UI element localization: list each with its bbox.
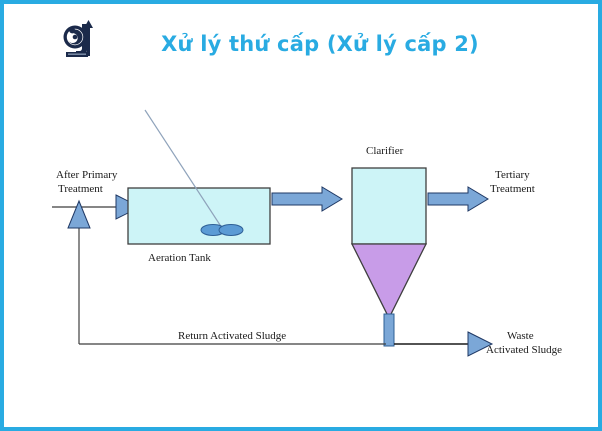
sludge-drawoff-pipe — [384, 314, 394, 346]
clarifier-cone-shape — [352, 244, 426, 318]
screenshot-root: Xử lý thứ cấp (Xử lý cấp 2) — [0, 0, 602, 431]
label-tertiary-treatment: Tertiary Treatment — [490, 168, 535, 196]
return-sludge-arrow-icon — [68, 201, 90, 228]
label-waste-line1: Waste — [486, 329, 562, 343]
label-after-primary-line2: Treatment — [56, 182, 117, 196]
clarifier-tank-shape — [352, 168, 426, 244]
aeration-tank-shape — [128, 188, 270, 244]
label-return-activated-sludge: Return Activated Sludge — [178, 329, 286, 343]
mixed-liquor-arrow-icon — [272, 187, 342, 211]
diffuser-right-icon — [219, 225, 243, 236]
label-waste-activated-sludge: Waste Activated Sludge — [486, 329, 562, 357]
label-waste-line2: Activated Sludge — [486, 343, 562, 357]
label-tertiary-line1: Tertiary — [490, 168, 535, 182]
process-flow-diagram — [0, 0, 602, 431]
label-after-primary-treatment: After Primary Treatment — [56, 168, 117, 196]
label-clarifier: Clarifier — [366, 144, 403, 158]
label-after-primary-line1: After Primary — [56, 168, 117, 182]
effluent-arrow-icon — [428, 187, 488, 211]
label-tertiary-line2: Treatment — [490, 182, 535, 196]
label-aeration-tank: Aeration Tank — [148, 251, 211, 265]
